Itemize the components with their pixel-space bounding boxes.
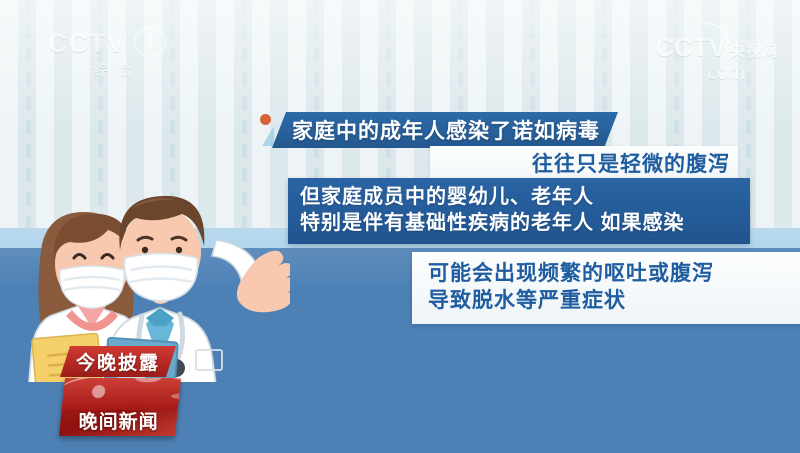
cctv1-watermark-subtitle: 综合: [48, 59, 178, 80]
broadcast-screenshot: CCTV 1 综合 CCTV央视网 com: [0, 0, 800, 453]
subtitle-panel-2: 往往只是轻微的腹泻: [430, 146, 738, 180]
teaser-badge-text: 今晚披露: [76, 348, 160, 375]
cctv-com-cn-text: 央视网: [730, 43, 778, 60]
subtitle-box-3: 但家庭成员中的婴幼儿、老年人 特别是伴有基础性疾病的老年人 如果感染: [288, 178, 750, 244]
cctv1-watermark: CCTV 1 综合: [48, 28, 178, 84]
cctv-com-domain: com: [655, 63, 778, 83]
subtitle-panel-4-line-1: 可能会出现频繁的呕吐或腹泻: [428, 260, 791, 287]
cctv-com-watermark: CCTV央视网 com: [655, 34, 778, 83]
subtitle-panel-4-line-2: 导致脱水等严重症状: [428, 287, 791, 314]
subtitle-banner-1-text: 家庭中的成年人感染了诺如病毒: [292, 115, 600, 145]
subtitle-box-3-line-2: 特别是伴有基础性疾病的老年人 如果感染: [300, 210, 740, 236]
subtitle-banner-1: 家庭中的成年人感染了诺如病毒: [272, 112, 618, 148]
subtitle-box-3-line-1: 但家庭成员中的婴幼儿、老年人: [300, 184, 740, 210]
two-cartoon-doctors-illustration: [20, 92, 290, 382]
program-badge-label: 晚间新闻: [59, 407, 178, 434]
subtitle-panel-4: 可能会出现频繁的呕吐或腹泻 导致脱水等严重症状: [412, 252, 800, 324]
program-badge-text: 晚间新闻: [79, 407, 159, 434]
subtitle-panel-2-text: 往往只是轻微的腹泻: [532, 148, 730, 178]
doctors-svg: [20, 92, 290, 382]
teaser-badge: 今晚披露: [60, 346, 176, 377]
globe-icon: [59, 378, 181, 410]
banner-decoration-dot: [260, 114, 271, 125]
program-badge: 晚间新闻: [59, 378, 181, 436]
banner-decoration-triangle: [262, 126, 274, 146]
cctv1-watermark-number: 1: [144, 31, 155, 54]
